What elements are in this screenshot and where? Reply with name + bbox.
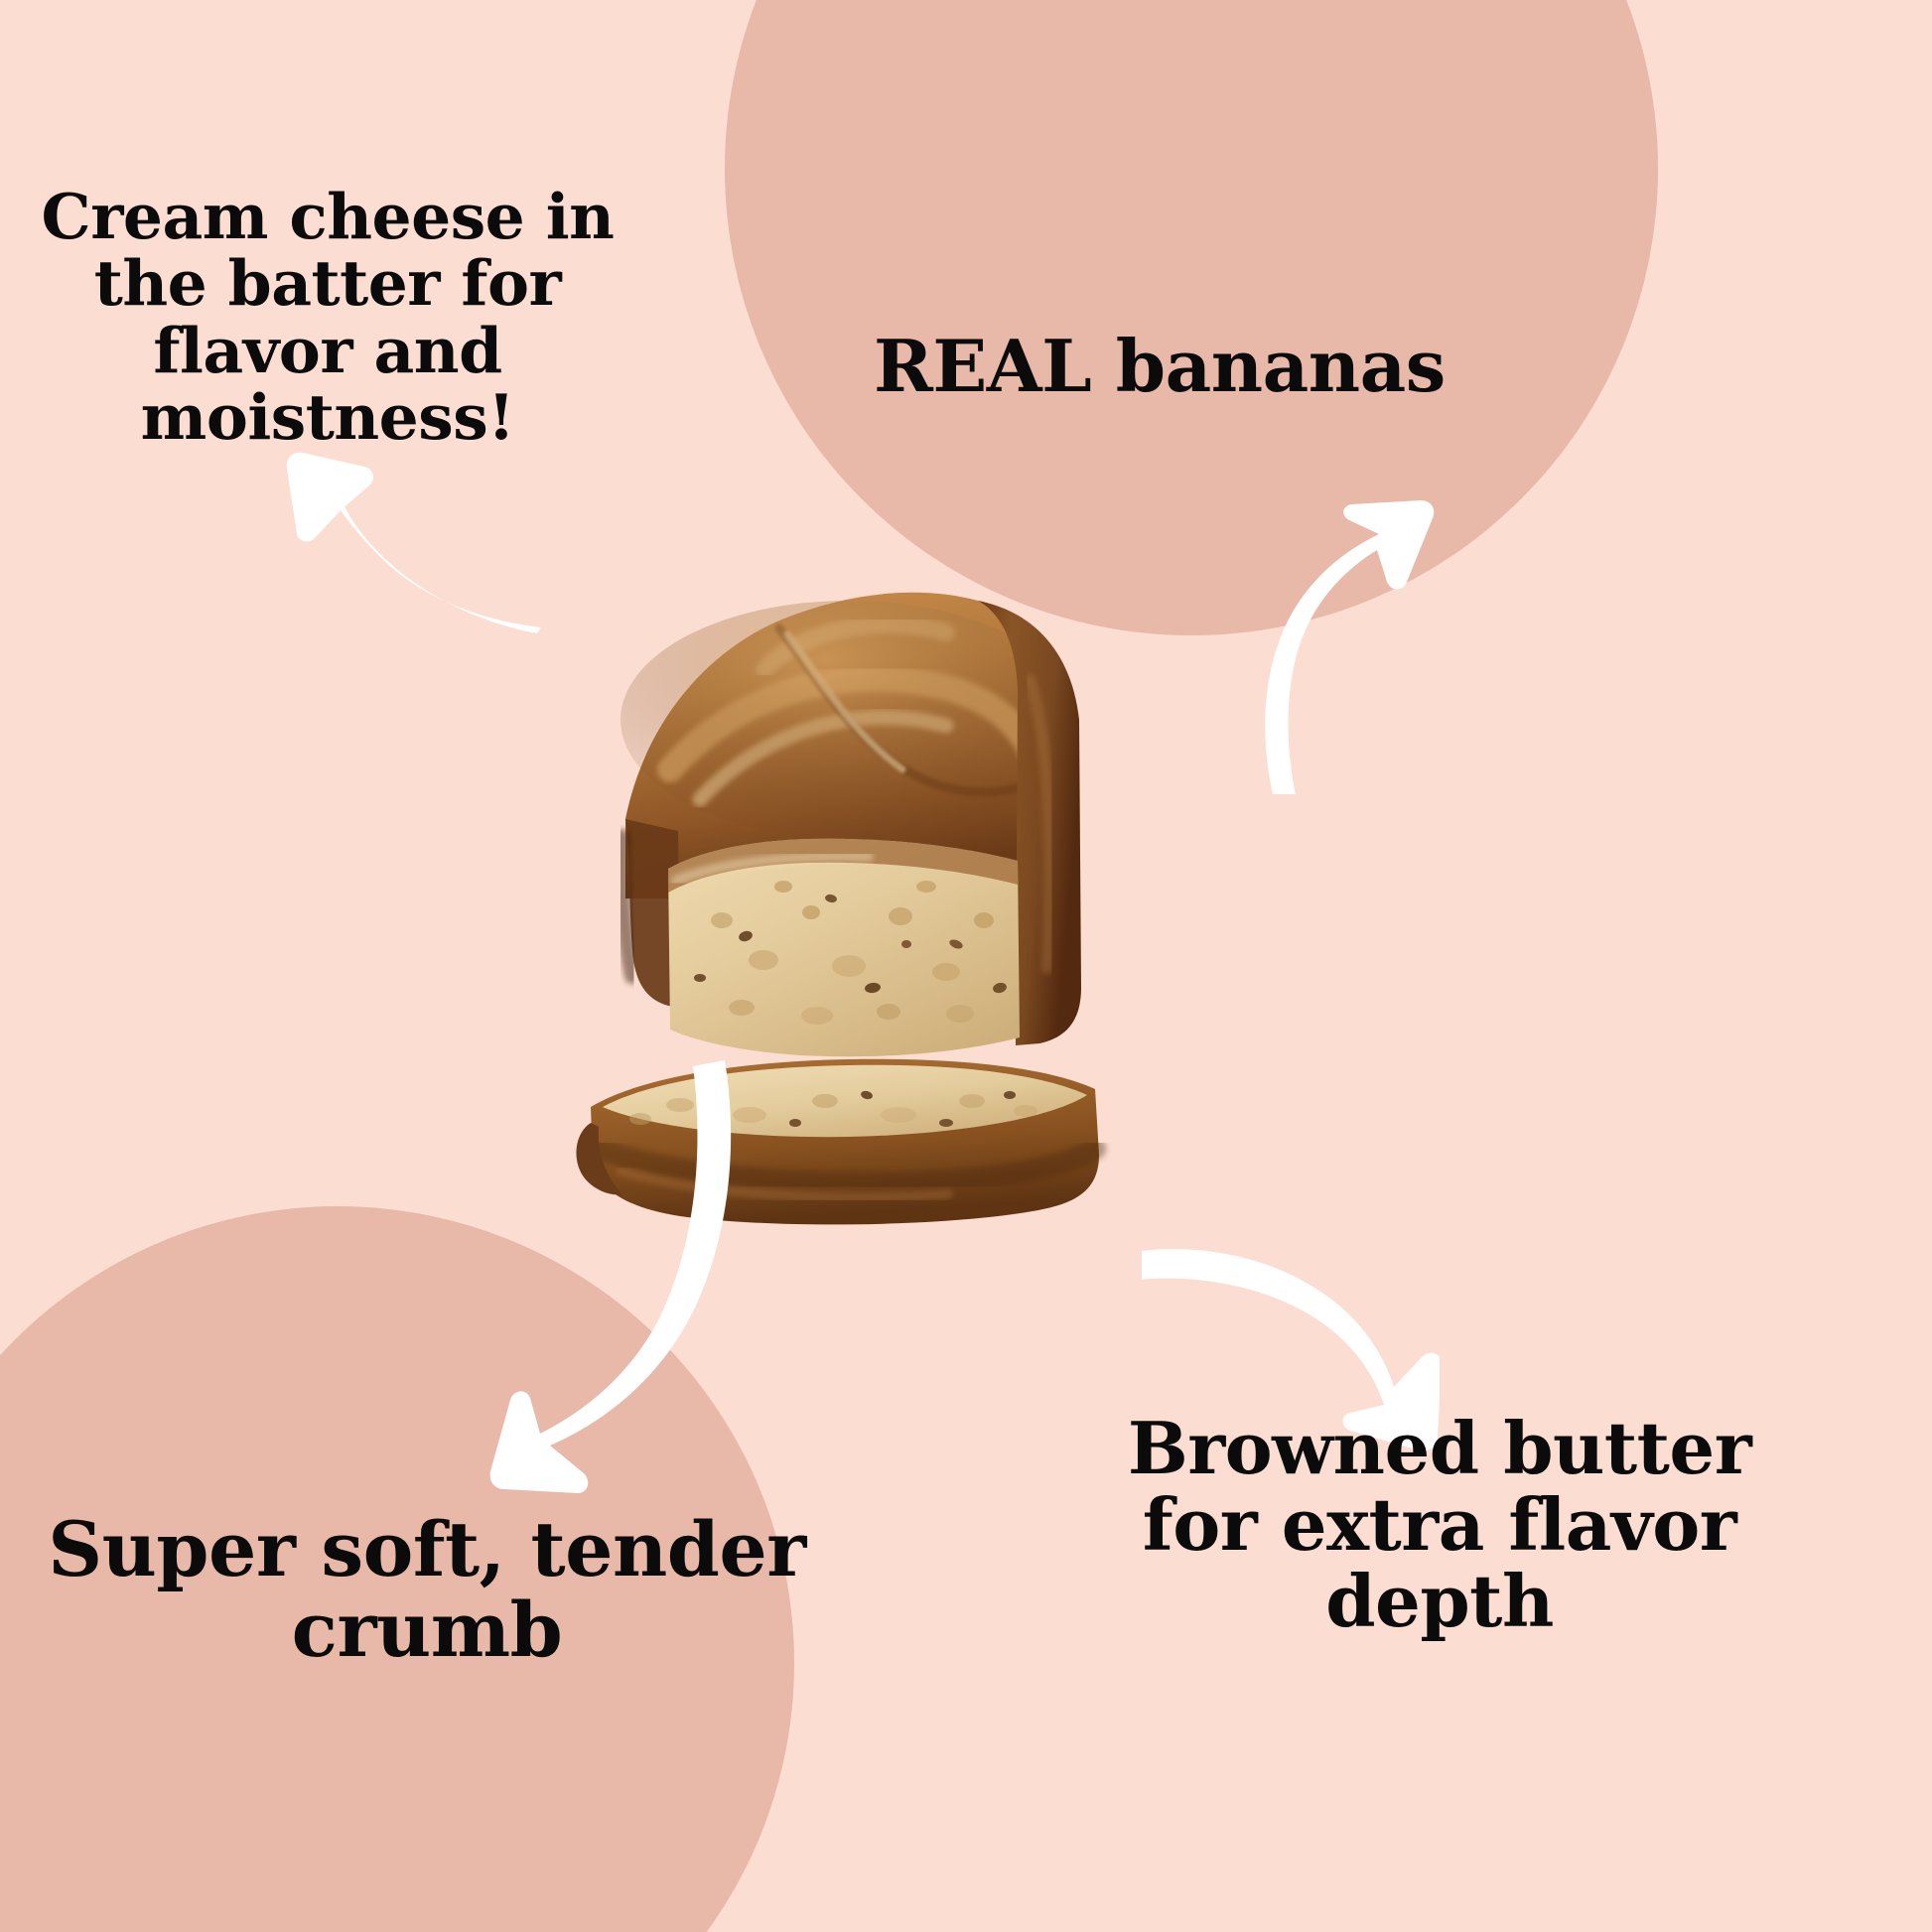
infographic-canvas: Cream cheese in the batter for flavor an…: [0, 0, 1932, 1932]
curved-arrow-up-right-icon: [1246, 496, 1504, 794]
decorative-circle-top-right: [725, 0, 1658, 635]
curved-arrow-up-left-icon: [253, 447, 541, 635]
callout-label-browned-butter: Browned butter for extra flavor depth: [1102, 1410, 1777, 1639]
callout-label-tender-crumb: Super soft, tender crumb: [30, 1509, 824, 1671]
callout-label-cream-cheese: Cream cheese in the batter for flavor an…: [40, 184, 616, 452]
callout-label-real-bananas: REAL bananas: [874, 328, 1529, 404]
curved-arrow-down-left-icon: [417, 1052, 735, 1569]
